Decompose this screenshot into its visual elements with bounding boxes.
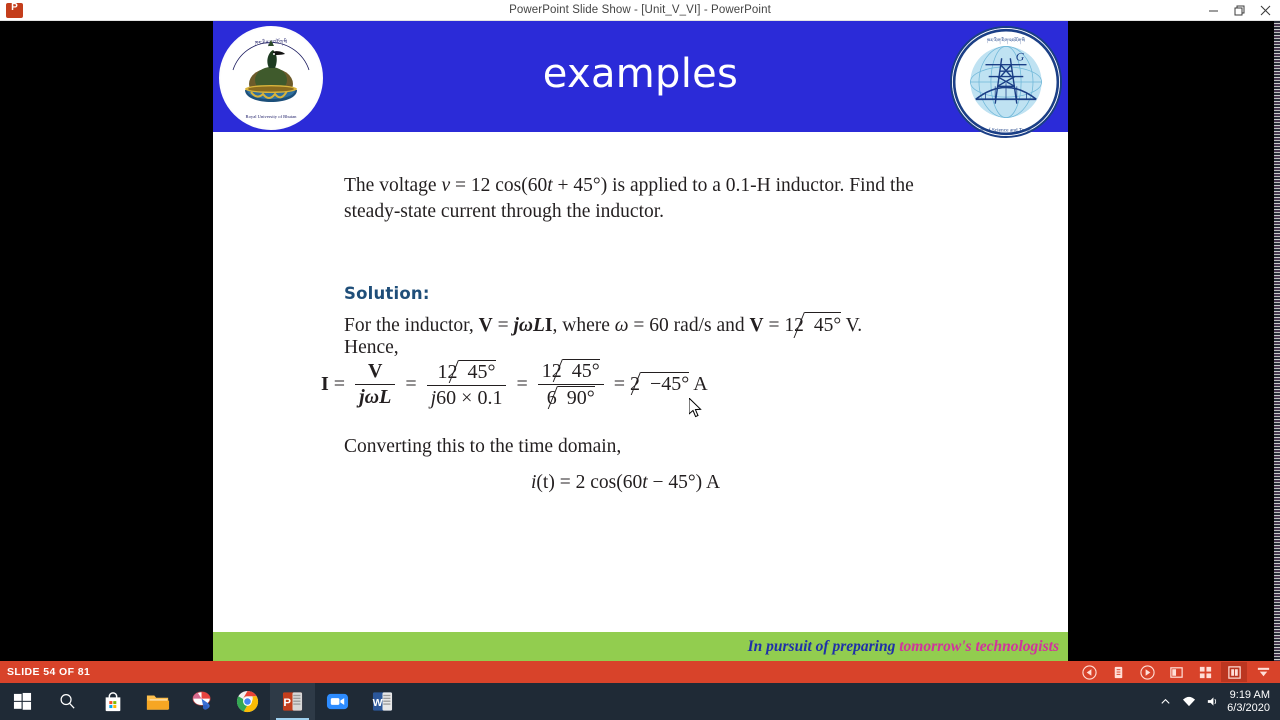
video-camera-icon bbox=[326, 690, 349, 713]
frac2-num-angle: 45° bbox=[459, 360, 496, 384]
presenter-view-button[interactable] bbox=[1163, 662, 1189, 682]
slide-canvas[interactable]: examples ཁར་རིན་འབརོག་སི bbox=[213, 21, 1068, 661]
chrome-icon bbox=[236, 690, 259, 713]
hence-text: Hence, bbox=[344, 337, 399, 359]
previous-slide-button[interactable] bbox=[1076, 662, 1102, 682]
slideshow-tools bbox=[1076, 661, 1276, 683]
windows-taskbar: P W bbox=[0, 683, 1280, 720]
solution-label: Solution: bbox=[344, 284, 430, 303]
slide-footer-band: In pursuit of preparing tomorrow's techn… bbox=[213, 632, 1068, 661]
slideshow-status-bar: SLIDE 54 OF 81 bbox=[0, 661, 1280, 683]
intro-a: For the inductor, bbox=[344, 315, 479, 336]
term-jwL: jωL bbox=[513, 315, 544, 336]
phasor-V: V bbox=[479, 315, 493, 336]
problem-line1-a: The voltage bbox=[344, 175, 441, 196]
time-domain-equation: i(t) = 2 cos(60t − 45°) A bbox=[531, 472, 720, 494]
frac3-den-angle: 90° bbox=[558, 386, 595, 410]
result-angle: −45° bbox=[641, 372, 689, 396]
slide-counter: SLIDE 54 OF 81 bbox=[7, 666, 90, 678]
svg-text:P: P bbox=[283, 697, 291, 709]
eq-equals-2: = bbox=[400, 373, 421, 395]
intro-d: = 60 rad/s and bbox=[629, 315, 750, 336]
network-icon[interactable] bbox=[1182, 695, 1196, 708]
tagline-part1: In pursuit of preparing bbox=[748, 638, 900, 655]
clock-time: 9:19 AM bbox=[1227, 689, 1270, 702]
frac2-denominator: jj60 × 0.160 × 0.1 bbox=[427, 385, 507, 410]
frac3-num-angle: 45° bbox=[563, 359, 600, 383]
all-slides-button[interactable] bbox=[1192, 662, 1218, 682]
pen-tools-button[interactable] bbox=[1105, 662, 1131, 682]
eq-lhs-I: I bbox=[321, 373, 329, 395]
powerpoint-icon: P bbox=[282, 691, 303, 712]
intro-f: V. bbox=[841, 315, 862, 336]
title-bar: PowerPoint Slide Show - [Unit_V_VI] - Po… bbox=[0, 0, 1280, 21]
zoom-slide-button[interactable] bbox=[1221, 662, 1247, 682]
converting-text: Converting this to the time domain, bbox=[344, 436, 621, 458]
chevron-up-icon[interactable] bbox=[1159, 695, 1172, 708]
next-slide-button[interactable] bbox=[1134, 662, 1160, 682]
fraction-V-over-jwL: VjωL bbox=[355, 360, 395, 409]
minimize-button[interactable] bbox=[1200, 0, 1226, 21]
frac2-numerator: 1245° bbox=[427, 360, 507, 385]
college-of-science-and-technology-logo: G ཁར་རིག་རིག་འབརོག་སི College of Science… bbox=[950, 26, 1062, 138]
phasor-V2: V bbox=[749, 315, 763, 336]
microsoft-store-button[interactable] bbox=[90, 683, 135, 720]
tray-icons bbox=[1159, 695, 1227, 708]
intro-c: , where bbox=[553, 315, 615, 336]
system-tray: 9:19 AM 6/3/2020 bbox=[1159, 683, 1280, 720]
volume-icon[interactable] bbox=[1206, 695, 1219, 708]
close-button[interactable] bbox=[1252, 0, 1278, 21]
screen: PowerPoint Slide Show - [Unit_V_VI] - Po… bbox=[0, 0, 1280, 720]
fraction-3: 1245°690° bbox=[538, 359, 604, 410]
windows-logo-icon bbox=[13, 692, 32, 711]
footer-tagline: In pursuit of preparing tomorrow's techn… bbox=[748, 638, 1059, 656]
restore-button[interactable] bbox=[1226, 0, 1252, 21]
angle-45: 45° bbox=[805, 312, 841, 339]
td-rest-a: = 2 cos(60 bbox=[555, 472, 642, 493]
problem-line1-b: = 12 cos(60 bbox=[450, 175, 547, 196]
folder-icon bbox=[146, 691, 170, 713]
taskbar-clock[interactable]: 9:19 AM 6/3/2020 bbox=[1227, 689, 1280, 715]
td-rest-b: − 45°) A bbox=[648, 472, 720, 493]
chrome-button[interactable] bbox=[225, 683, 270, 720]
zoom-meetings-button[interactable] bbox=[315, 683, 360, 720]
svg-text:G: G bbox=[1016, 49, 1025, 63]
fraction-2: 1245°jj60 × 0.160 × 0.1 bbox=[427, 360, 507, 410]
td-of-t: (t) bbox=[536, 472, 554, 493]
result-unit: A bbox=[689, 373, 707, 395]
solution-intro: For the inductor, V = jωLI, where ω = 60… bbox=[344, 312, 984, 339]
phasor-I: I bbox=[545, 315, 553, 336]
search-icon bbox=[58, 692, 77, 711]
frac1-denominator: jωL bbox=[355, 384, 395, 409]
word-button[interactable]: W bbox=[360, 683, 405, 720]
eq-equals-1: = bbox=[329, 373, 350, 395]
royal-university-of-bhutan-logo: ཁར་རིན་འབརོག་སི Royal University of Bhut… bbox=[219, 26, 323, 130]
symbol-omega: ω bbox=[615, 315, 629, 336]
paint-button[interactable] bbox=[180, 683, 225, 720]
word-icon: W bbox=[372, 691, 393, 712]
store-icon bbox=[102, 691, 124, 713]
intro-b: = bbox=[493, 315, 514, 336]
search-button[interactable] bbox=[45, 683, 90, 720]
file-explorer-button[interactable] bbox=[135, 683, 180, 720]
problem-line1-c: + 45°) is applied to a 0.1-H inductor. F… bbox=[553, 175, 885, 196]
svg-text:Royal University of Bhutan: Royal University of Bhutan bbox=[246, 114, 298, 119]
frac1-numerator: V bbox=[355, 360, 395, 384]
slide-body: The voltage v = 12 cos(60t + 45°) is app… bbox=[213, 132, 1068, 649]
frac3-numerator: 1245° bbox=[538, 359, 604, 384]
window-controls bbox=[1200, 0, 1278, 21]
tagline-part2: tomorrow's technologists bbox=[899, 638, 1059, 655]
screen-edge-artifact bbox=[1274, 21, 1280, 661]
variable-v: v bbox=[441, 175, 450, 196]
more-options-button[interactable] bbox=[1250, 662, 1276, 682]
problem-statement: The voltage v = 12 cos(60t + 45°) is app… bbox=[344, 173, 944, 225]
start-button[interactable] bbox=[0, 683, 45, 720]
paint-icon bbox=[191, 690, 214, 713]
eq-equals-4: = bbox=[609, 373, 630, 395]
slide-title: examples bbox=[213, 21, 1068, 132]
svg-text:W: W bbox=[373, 697, 383, 709]
main-equation: I = VjωL = 1245°jj60 × 0.160 × 0.1 = 124… bbox=[321, 360, 1021, 411]
clock-date: 6/3/2020 bbox=[1227, 702, 1270, 715]
eq-equals-3: = bbox=[511, 373, 532, 395]
window-title: PowerPoint Slide Show - [Unit_V_VI] - Po… bbox=[0, 4, 1280, 16]
powerpoint-button[interactable]: P bbox=[270, 683, 315, 720]
frac3-denominator: 690° bbox=[538, 384, 604, 410]
